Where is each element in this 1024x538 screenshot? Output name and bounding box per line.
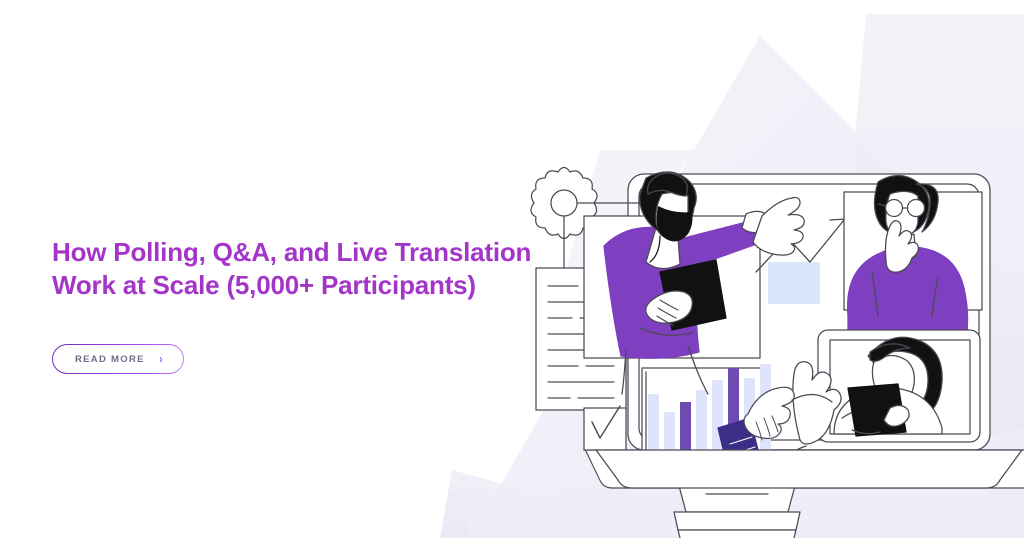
read-more-label: READ MORE bbox=[75, 354, 145, 365]
page-title: How Polling, Q&A, and Live Translation W… bbox=[52, 236, 552, 302]
hero-banner: How Polling, Q&A, and Live Translation W… bbox=[0, 0, 1024, 538]
chevron-right-icon: › bbox=[159, 353, 162, 365]
hero-text-column: How Polling, Q&A, and Live Translation W… bbox=[52, 236, 552, 374]
checkbox-checked-icon bbox=[584, 406, 626, 450]
hero-illustration bbox=[500, 150, 1024, 538]
cta-container: READ MORE › bbox=[52, 344, 552, 374]
participant-tile-glasses bbox=[844, 175, 982, 340]
participant-tile-woman-tablet bbox=[818, 330, 980, 442]
read-more-button[interactable]: READ MORE › bbox=[52, 344, 184, 374]
